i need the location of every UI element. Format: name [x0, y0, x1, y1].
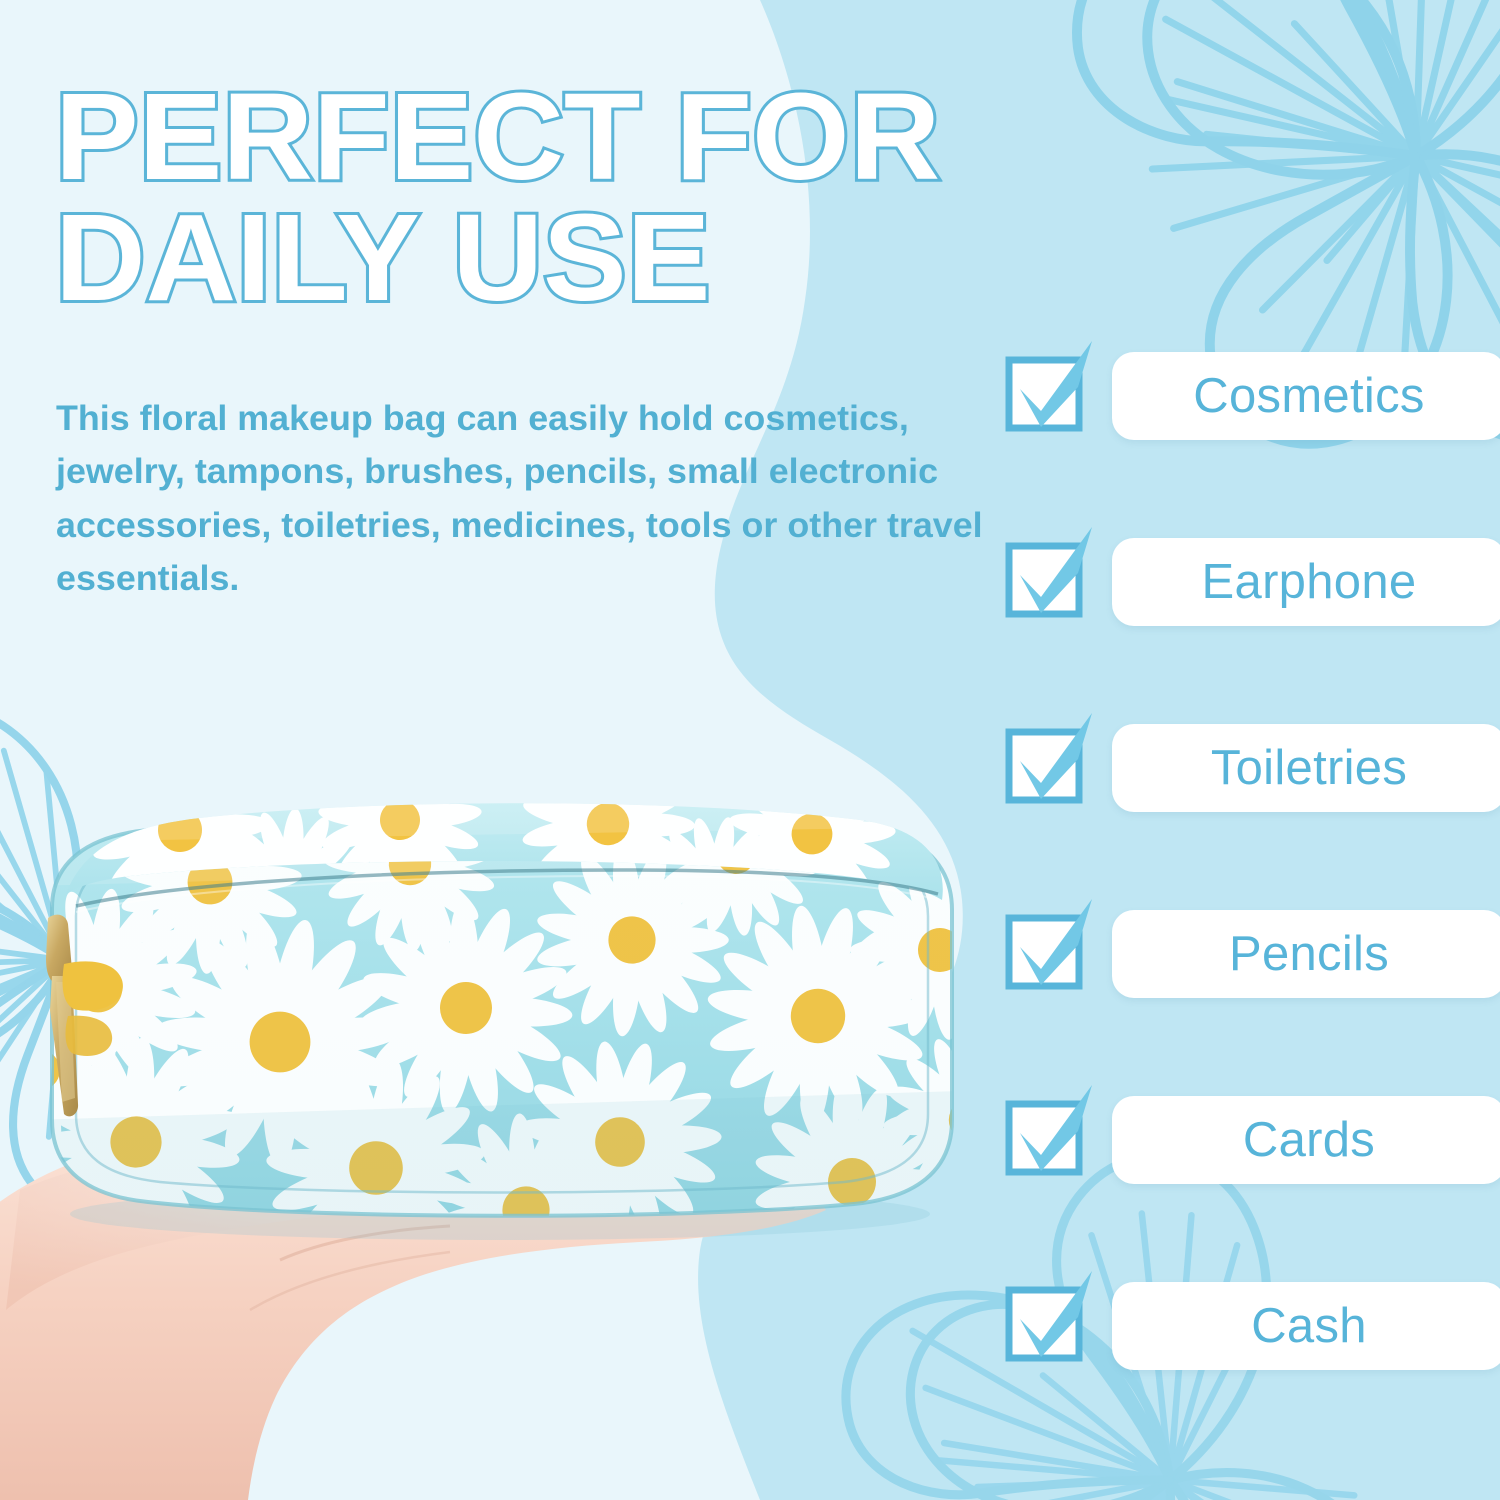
checklist-label-pill[interactable]: Pencils — [1112, 910, 1500, 998]
checklist-label-pill[interactable]: Toiletries — [1112, 724, 1500, 812]
checklist-label: Cash — [1251, 1298, 1367, 1354]
checklist-item-pencils[interactable]: Pencils — [1006, 910, 1500, 998]
checklist-label: Earphone — [1202, 554, 1417, 610]
product-photo-bag-in-hand — [0, 790, 1040, 1500]
checklist-label-pill[interactable]: Cash — [1112, 1282, 1500, 1370]
checklist-item-toiletries[interactable]: Toiletries — [1006, 724, 1500, 812]
checklist-item-cosmetics[interactable]: Cosmetics — [1006, 352, 1500, 440]
checklist-item-cash[interactable]: Cash — [1006, 1282, 1500, 1370]
checkbox-checked-icon[interactable] — [1006, 543, 1092, 621]
checklist-label: Pencils — [1229, 926, 1389, 982]
checklist-label-pill[interactable]: Cosmetics — [1112, 352, 1500, 440]
checklist-label-pill[interactable]: Cards — [1112, 1096, 1500, 1184]
promo-image: PERFECT FOR DAILY USE This floral makeup… — [0, 0, 1500, 1500]
checklist-label-pill[interactable]: Earphone — [1112, 538, 1500, 626]
checklist-label: Toiletries — [1211, 740, 1407, 796]
checklist-label: Cosmetics — [1193, 368, 1424, 424]
daisy-makeup-bag — [0, 723, 1084, 1314]
page-title: PERFECT FOR DAILY USE — [55, 78, 1055, 319]
feature-checklist: Cosmetics Earphone Toiletr — [1006, 352, 1500, 1370]
checklist-item-earphone[interactable]: Earphone — [1006, 538, 1500, 626]
checkbox-checked-icon[interactable] — [1006, 357, 1092, 435]
description-paragraph: This floral makeup bag can easily hold c… — [56, 392, 1005, 605]
checklist-item-cards[interactable]: Cards — [1006, 1096, 1500, 1184]
checklist-label: Cards — [1243, 1112, 1375, 1168]
